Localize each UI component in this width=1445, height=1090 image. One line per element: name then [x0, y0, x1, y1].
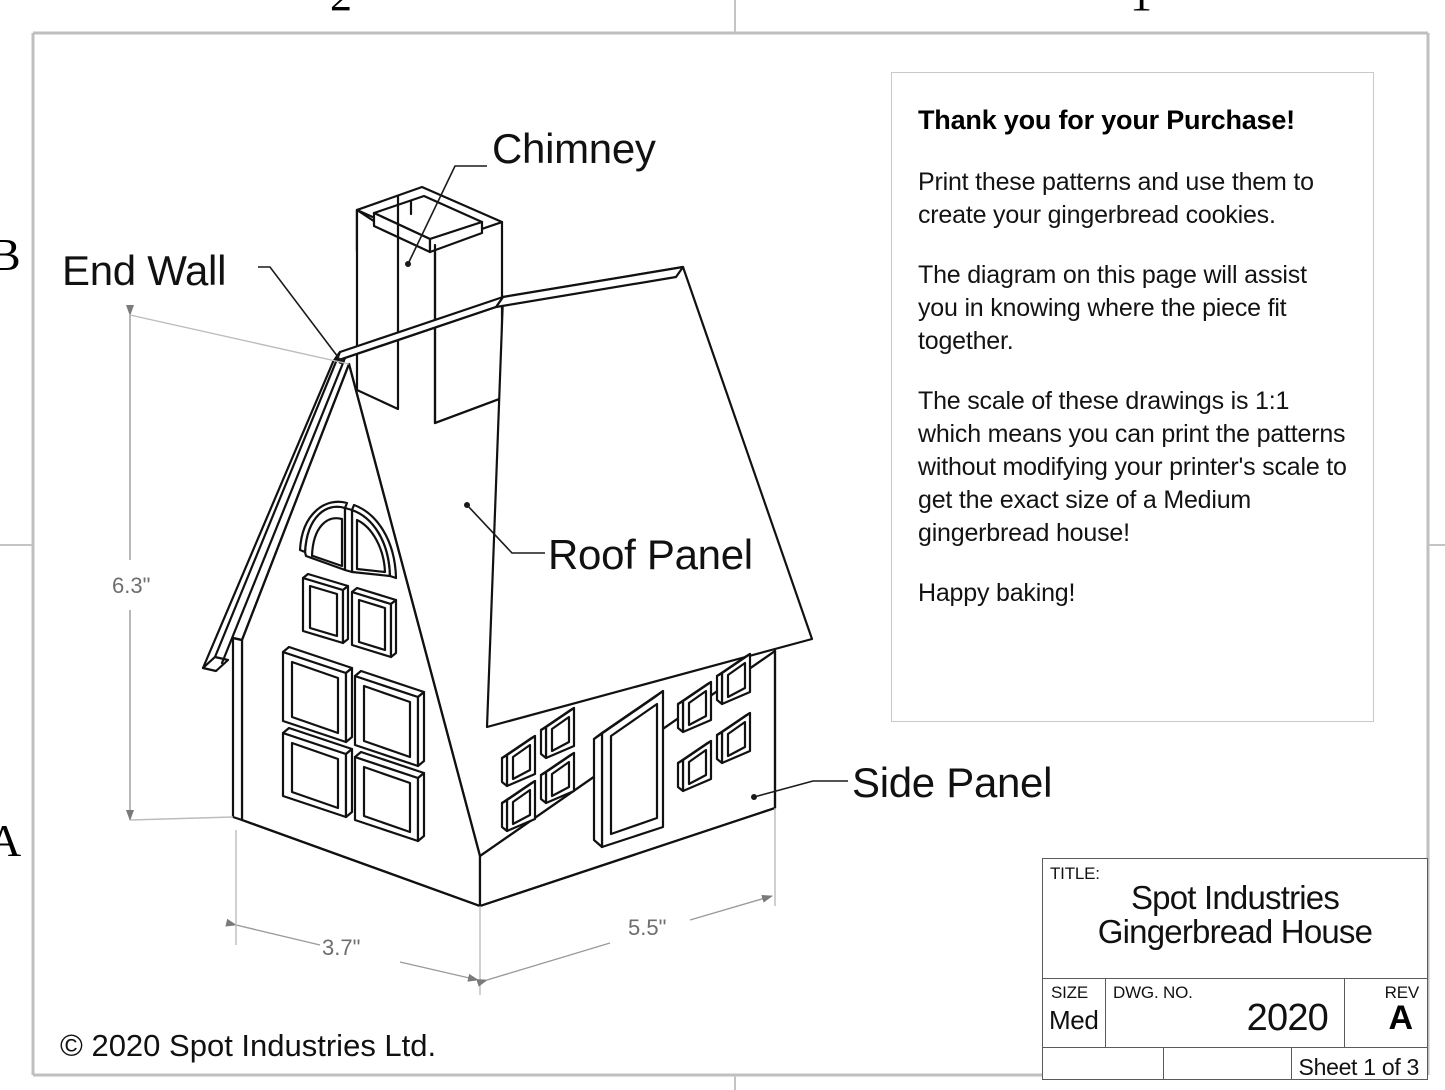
end-wall-panel [233, 364, 480, 906]
zone-marker-left-a: A [0, 818, 21, 864]
window-side-right-bl [678, 741, 711, 791]
title-block-title-value: Spot Industries Gingerbread House [1043, 881, 1427, 948]
window-gable-main-tr [355, 671, 424, 766]
chimney-geometry [357, 187, 502, 423]
side-panel [480, 651, 775, 906]
rev-value: A [1345, 1001, 1413, 1035]
roof-panel-left [203, 352, 345, 671]
dim-line-endwidth-left [236, 925, 320, 945]
zone-marker-left-b: B [0, 232, 21, 278]
roof-panel-right [333, 267, 812, 727]
window-side-right-tr [717, 654, 750, 704]
callout-label-side-panel: Side Panel [852, 759, 1052, 807]
leader-end-wall [258, 267, 341, 361]
zone-marker-top-1: 1 [1130, 0, 1152, 18]
dimension-label-end-width: 3.7" [322, 935, 360, 961]
title-block-bottom-row: Sheet 1 of 3 [1043, 1048, 1427, 1079]
title-block-middle-row: SIZE Med DWG. NO. 2020 REV A [1043, 979, 1427, 1048]
window-gable-upper-left [303, 574, 348, 643]
callout-label-end-wall: End Wall [62, 247, 226, 295]
dim-line-sidewidth-left [487, 943, 610, 980]
title-block: TITLE: Spot Industries Gingerbread House… [1042, 858, 1428, 1080]
dimension-label-side-width: 5.5" [628, 915, 666, 941]
purchase-notes-panel: Thank you for your Purchase! Print these… [891, 72, 1374, 722]
window-gable-main-br [355, 752, 424, 841]
leader-side-panel [754, 781, 848, 797]
title-line-1: Spot Industries [1043, 881, 1427, 915]
title-line-2: Gingerbread House [1043, 915, 1427, 949]
window-side-left-tr [541, 708, 574, 758]
window-gable-main-tl [283, 647, 352, 742]
leader-dot-end-wall [338, 358, 344, 364]
callout-label-chimney: Chimney [492, 125, 656, 173]
leader-roof-panel [467, 505, 545, 553]
notes-title: Thank you for your Purchase! [918, 105, 1347, 136]
notes-paragraph-3: The scale of these drawings is 1:1 which… [918, 385, 1347, 550]
window-side-left-tl [502, 736, 535, 786]
window-gable-upper-right [352, 588, 396, 657]
dim-line-endwidth-right [400, 962, 478, 980]
dim-ext-height-bottom [130, 817, 233, 820]
title-block-dwg-cell: DWG. NO. 2020 [1106, 979, 1345, 1047]
copyright-notice: © 2020 Spot Industries Ltd. [60, 1028, 436, 1064]
window-arched-gable [300, 502, 396, 578]
window-side-right-tl [678, 682, 711, 732]
zone-marker-top-2: 2 [330, 0, 352, 18]
title-block-bottom-cell-2 [1164, 1048, 1292, 1079]
drawing-sheet: 2 1 B A [0, 0, 1445, 1090]
sheet-number: Sheet 1 of 3 [1292, 1054, 1419, 1081]
window-side-right-br [717, 713, 750, 763]
window-side-left-bl [502, 781, 535, 831]
leader-dot-chimney [405, 261, 411, 267]
notes-paragraph-1: Print these patterns and use them to cre… [918, 166, 1347, 232]
notes-paragraph-4: Happy baking! [918, 577, 1347, 610]
title-block-bottom-cell-3: Sheet 1 of 3 [1292, 1048, 1427, 1079]
leader-dot-roof-panel [464, 502, 470, 508]
notes-paragraph-2: The diagram on this page will assist you… [918, 259, 1347, 358]
window-side-left-br [541, 753, 574, 803]
window-gable-main-bl [283, 728, 352, 817]
leader-dot-side-panel [751, 794, 757, 800]
title-block-rev-cell: REV A [1345, 979, 1427, 1047]
size-value: Med [1049, 1005, 1098, 1036]
title-block-bottom-cell-1 [1043, 1048, 1164, 1079]
title-block-size-cell: SIZE Med [1043, 979, 1106, 1047]
size-label: SIZE [1051, 983, 1088, 1003]
dim-line-sidewidth-right [690, 896, 772, 920]
door [594, 691, 663, 847]
dimension-label-height: 6.3" [112, 573, 150, 599]
leader-chimney [408, 166, 487, 264]
dim-ext-height-top [130, 315, 349, 364]
callout-label-roof-panel: Roof Panel [548, 531, 753, 579]
dwg-no-value: 2020 [1106, 997, 1328, 1040]
title-block-title-row: TITLE: Spot Industries Gingerbread House [1043, 859, 1427, 979]
